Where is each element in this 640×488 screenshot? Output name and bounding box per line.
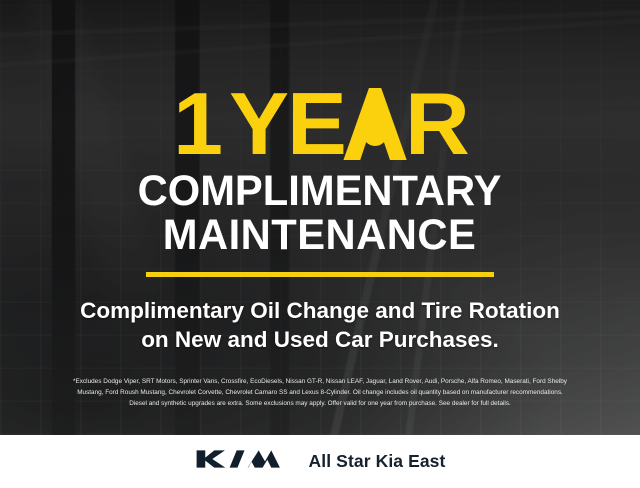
kia-logo-icon xyxy=(195,448,287,475)
footer-bar: All Star Kia East xyxy=(0,435,640,488)
dealer-name: All Star Kia East xyxy=(309,451,446,472)
headline-maintenance: MAINTENANCE xyxy=(138,213,502,257)
hero-section: 1 YE R COMPLIMENTARY MAINTENANC xyxy=(0,0,640,435)
headline-year-word-pre: YE xyxy=(229,86,345,162)
disclaimer-line-2: Mustang, Ford Roush Mustang, Chevrolet C… xyxy=(12,387,628,398)
offer-statement: Complimentary Oil Change and Tire Rotati… xyxy=(80,296,560,355)
yellow-divider xyxy=(146,272,494,277)
disclaimer-text: *Excludes Dodge Viper, SRT Motors, Sprin… xyxy=(0,376,640,409)
headline-year: 1 YE R xyxy=(173,83,468,165)
hero-content: 1 YE R COMPLIMENTARY MAINTENANC xyxy=(0,0,640,435)
headline-year-word-post: R xyxy=(405,86,468,162)
disclaimer-line-1: *Excludes Dodge Viper, SRT Motors, Sprin… xyxy=(12,376,628,387)
headline-complimentary: COMPLIMENTARY xyxy=(138,169,502,213)
headline-year-word: YE R xyxy=(229,86,468,162)
offer-line-1: Complimentary Oil Change and Tire Rotati… xyxy=(80,296,560,326)
letter-a-oil-drop-icon xyxy=(343,88,406,160)
offer-line-2: on New and Used Car Purchases. xyxy=(80,325,560,355)
advertisement-banner: 1 YE R COMPLIMENTARY MAINTENANC xyxy=(0,0,640,488)
headline-subtitle: COMPLIMENTARY MAINTENANCE xyxy=(138,169,502,258)
headline-year-number: 1 xyxy=(173,86,222,162)
disclaimer-line-3: Diesel and synthetic upgrades are extra.… xyxy=(12,398,628,409)
